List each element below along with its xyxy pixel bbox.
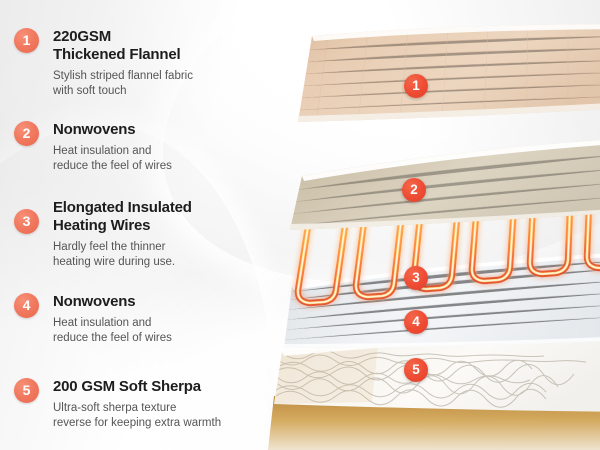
illustration-badge-4: 4 xyxy=(404,310,428,334)
feature-badge-4: 4 xyxy=(14,293,39,318)
feature-badge-5: 5 xyxy=(14,378,39,403)
feature-list: 1 220GSM Thickened Flannel Stylish strip… xyxy=(0,0,300,450)
layer-stack-illustration: 1 2 3 4 5 xyxy=(268,0,600,450)
feature-item-2: 2 Nonwovens Heat insulation and reduce t… xyxy=(14,121,294,174)
feature-item-3: 3 Elongated Insulated Heating Wires Hard… xyxy=(14,199,294,270)
feature-item-1: 1 220GSM Thickened Flannel Stylish strip… xyxy=(14,28,294,99)
feature-description-1: Stylish striped flannel fabric with soft… xyxy=(53,69,294,99)
feature-description-3: Hardly feel the thinner heating wire dur… xyxy=(53,240,294,270)
feature-description-2: Heat insulation and reduce the feel of w… xyxy=(53,144,294,174)
feature-heading-5: 200 GSM Soft Sherpa xyxy=(53,378,294,396)
feature-description-4: Heat insulation and reduce the feel of w… xyxy=(53,316,294,346)
feature-description-5: Ultra-soft sherpa texture reverse for ke… xyxy=(53,401,294,431)
illustration-badge-1: 1 xyxy=(404,74,428,98)
illustration-badge-5: 5 xyxy=(404,358,428,382)
feature-heading-3: Elongated Insulated Heating Wires xyxy=(53,199,294,235)
feature-heading-4: Nonwovens xyxy=(53,293,294,311)
feature-badge-2: 2 xyxy=(14,121,39,146)
illustration-badge-3: 3 xyxy=(404,266,428,290)
feature-item-5: 5 200 GSM Soft Sherpa Ultra-soft sherpa … xyxy=(14,378,294,431)
feature-item-4: 4 Nonwovens Heat insulation and reduce t… xyxy=(14,293,294,346)
feature-heading-1: 220GSM Thickened Flannel xyxy=(53,28,294,64)
flannel-layer xyxy=(268,0,600,450)
feature-heading-2: Nonwovens xyxy=(53,121,294,139)
feature-badge-1: 1 xyxy=(14,28,39,53)
illustration-badge-2: 2 xyxy=(402,178,426,202)
product-layers-infographic: 1 2 3 4 5 1 220GSM Thickened Flannel Sty… xyxy=(0,0,600,450)
feature-badge-3: 3 xyxy=(14,209,39,234)
